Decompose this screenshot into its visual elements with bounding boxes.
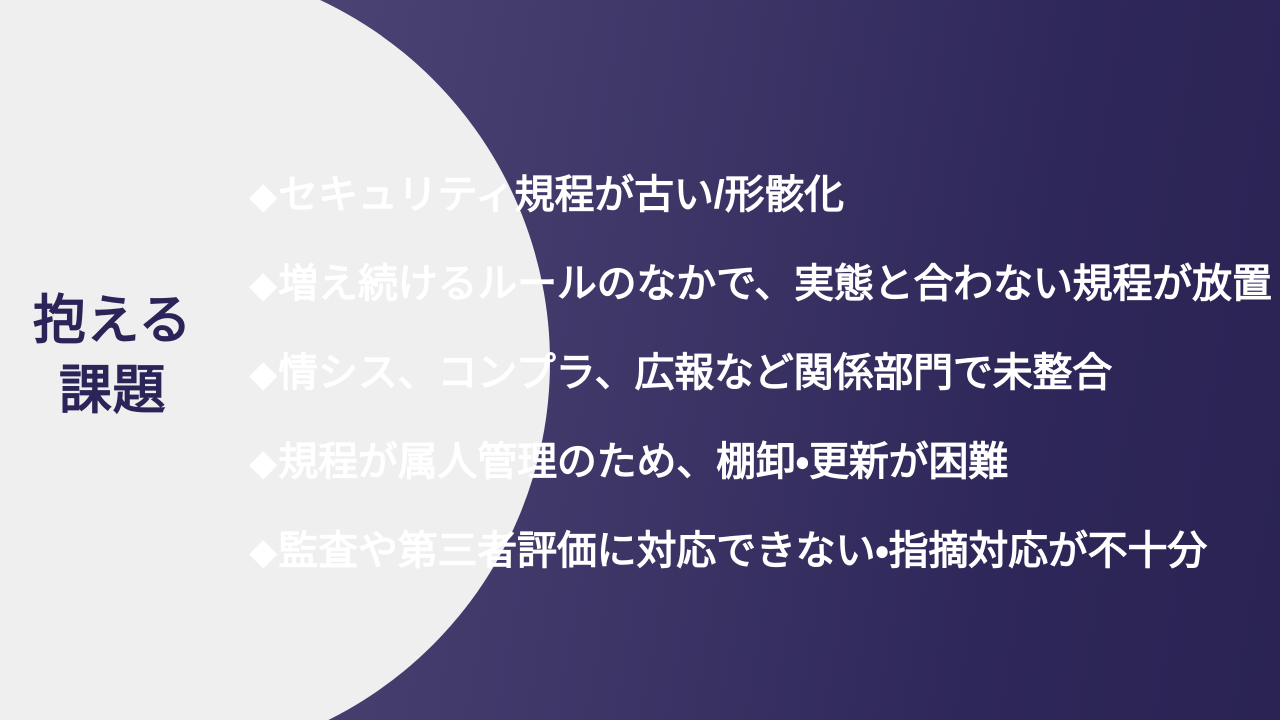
list-item: ◆ 規程が属人管理のため、棚卸・更新が困難 xyxy=(249,435,1259,489)
diamond-bullet-icon: ◆ xyxy=(249,533,277,570)
list-item-label: 情シス、コンプラ、広報など関係部門で未整合 xyxy=(278,353,1112,393)
page-title-line-1: 抱える xyxy=(0,286,225,356)
page-title-line-2: 課題 xyxy=(0,356,225,426)
list-item: ◆ 増え続けるルールのなかで、実態と合わない規程が放置 xyxy=(249,257,1259,311)
list-item-label: 監査や第三者評価に対応できない・指摘対応が不十分 xyxy=(278,531,1207,571)
list-item: ◆ 監査や第三者評価に対応できない・指摘対応が不十分 xyxy=(249,524,1259,578)
slide-canvas: 抱える 課題 ◆ セキュリティ規程が古い/形骸化 ◆ 増え続けるルールのなかで、… xyxy=(0,0,1280,720)
list-item-label: セキュリティ規程が古い/形骸化 xyxy=(278,175,844,215)
list-item: ◆ セキュリティ規程が古い/形骸化 xyxy=(249,168,1259,222)
diamond-bullet-icon: ◆ xyxy=(249,444,277,481)
diamond-bullet-icon: ◆ xyxy=(249,355,277,392)
list-item-label: 増え続けるルールのなかで、実態と合わない規程が放置 xyxy=(278,264,1271,304)
list-item: ◆ 情シス、コンプラ、広報など関係部門で未整合 xyxy=(249,346,1259,400)
page-title: 抱える 課題 xyxy=(0,286,225,426)
bullet-list: ◆ セキュリティ規程が古い/形骸化 ◆ 増え続けるルールのなかで、実態と合わない… xyxy=(249,168,1259,578)
diamond-bullet-icon: ◆ xyxy=(249,177,277,214)
list-item-label: 規程が属人管理のため、棚卸・更新が困難 xyxy=(278,442,1008,482)
diamond-bullet-icon: ◆ xyxy=(249,266,277,303)
